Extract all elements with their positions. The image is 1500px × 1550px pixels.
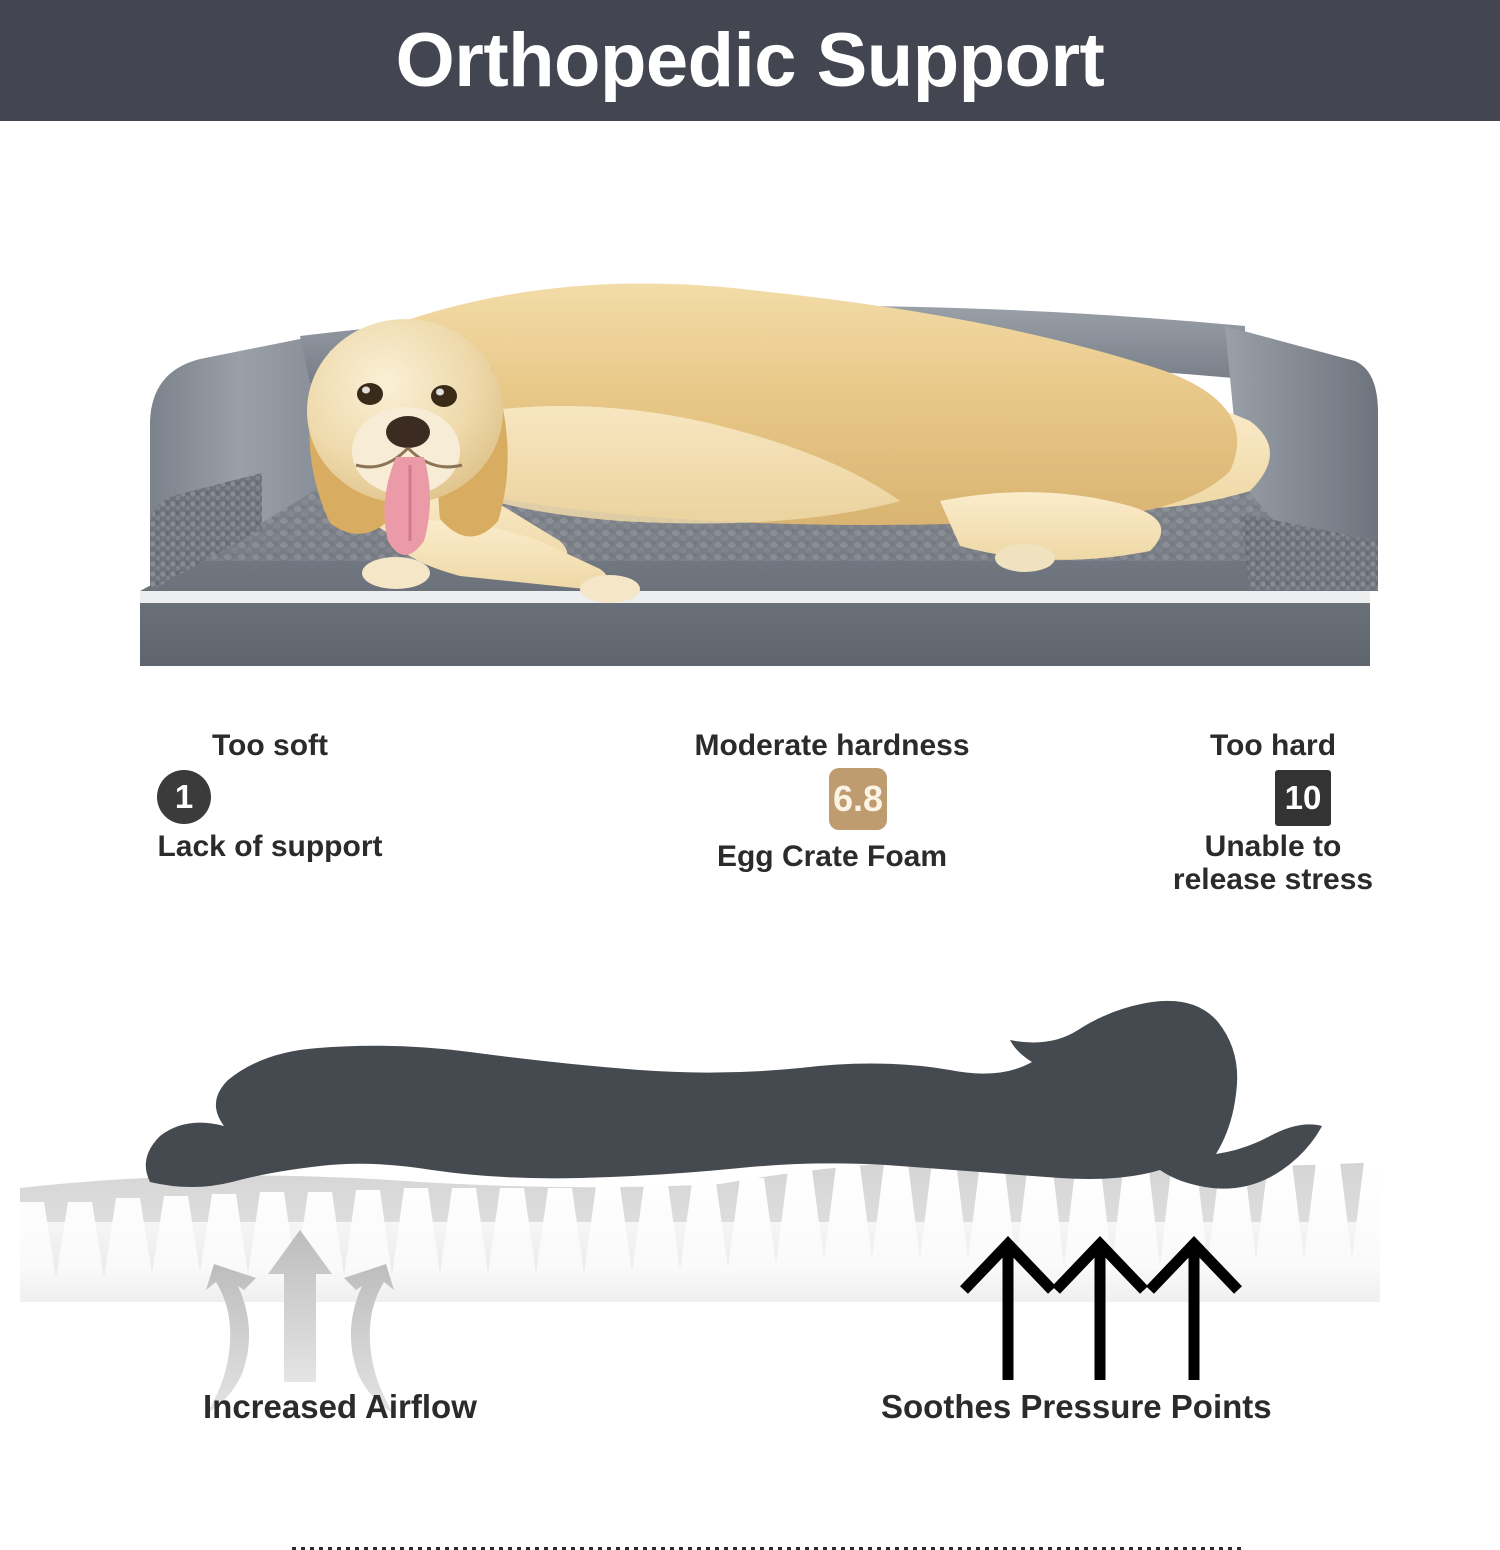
scale-left-top-label: Too soft [90,730,450,762]
scale-left-bottom-label: Lack of support [90,830,450,864]
airflow-caption: Increased Airflow [203,1388,477,1426]
foam-diagram [0,930,1500,1444]
scale-right-top-label: Too hard [1108,730,1438,762]
scale-middle-badge: 6.8 [829,768,887,830]
scale-right-bottom-label: Unable to release stress [1108,830,1438,897]
scale-node-moderate: Moderate hardness 6.8 Egg Crate Foam [612,730,1052,873]
scale-left-badge: 1 [157,770,211,824]
scale-middle-top-label: Moderate hardness [612,730,1052,762]
scale-node-too-soft: Too soft 1 Lack of support [90,730,450,863]
product-photo [0,121,1500,721]
scale-node-too-hard: Too hard 10 Unable to release stress [1108,730,1438,897]
pressure-caption: Soothes Pressure Points [881,1388,1272,1426]
scale-right-bottom-line1: Unable to [1108,830,1438,864]
dog-silhouette [146,1001,1322,1189]
scale-right-bottom-line2: release stress [1108,863,1438,897]
foam-cross-section-illustration [0,930,1500,1444]
hardness-scale: Too soft 1 Lack of support Moderate hard… [0,730,1500,930]
scale-middle-bottom-label: Egg Crate Foam [612,840,1052,874]
header-banner: Orthopedic Support [0,0,1500,121]
dog-bed-illustration [0,121,1500,721]
page-title: Orthopedic Support [396,23,1105,99]
pressure-point-arrows [964,1244,1238,1380]
scale-right-badge: 10 [1275,770,1331,826]
